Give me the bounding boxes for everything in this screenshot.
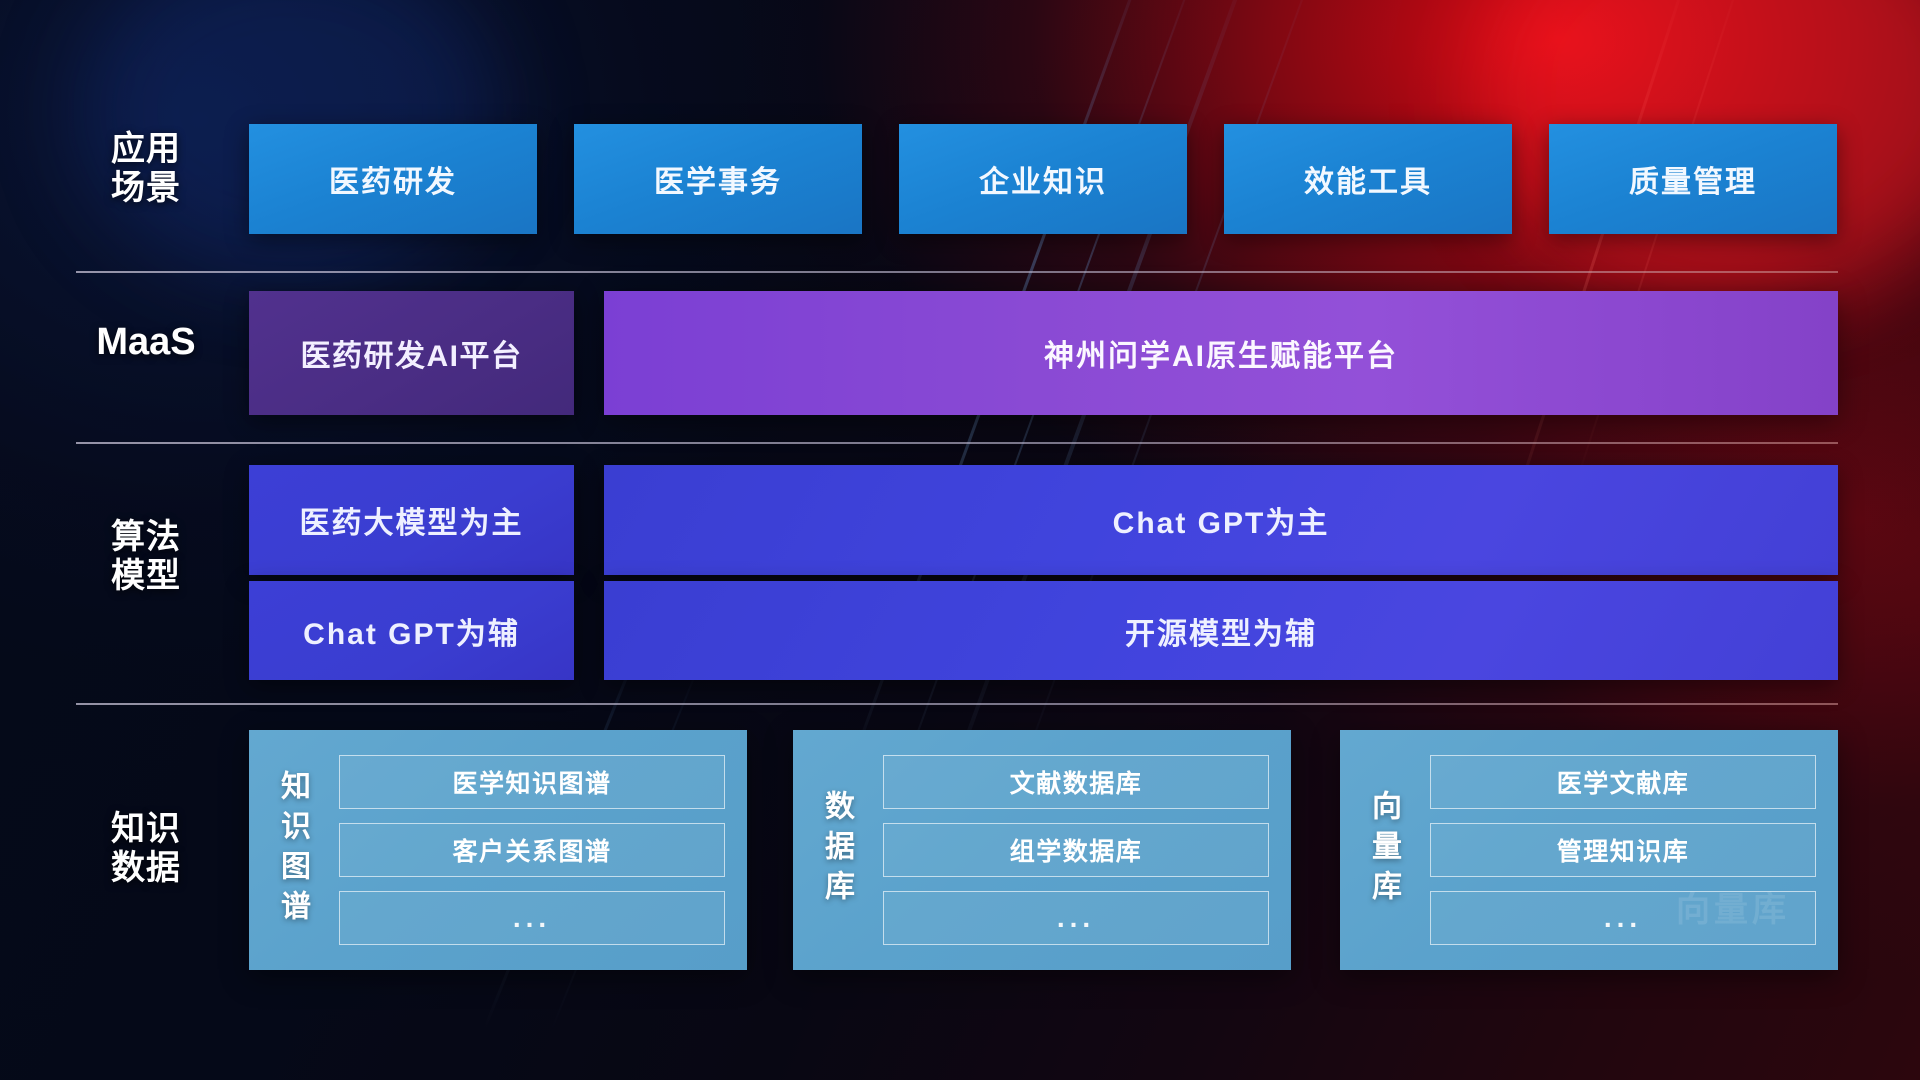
knowledge-panel-database-title: 数据库 — [793, 730, 879, 970]
knowledge-panel-vector-items: 医学文献库 管理知识库 ... — [1426, 730, 1838, 970]
knowledge-item-graph-more[interactable]: ... — [339, 891, 725, 945]
row-label-knowledge: 知识 数据 — [76, 810, 216, 889]
app-box-medicine-rd[interactable]: 医药研发 — [249, 124, 537, 234]
knowledge-item-database-more[interactable]: ... — [883, 891, 1269, 945]
algo-box-chatgpt-primary[interactable]: Chat GPT为主 — [604, 465, 1838, 575]
app-box-enterprise-knowledge[interactable]: 企业知识 — [899, 124, 1187, 234]
knowledge-item-management-kb[interactable]: 管理知识库 — [1430, 823, 1816, 877]
maas-box-shenzhou-wenxue-platform[interactable]: 神州问学AI原生赋能平台 — [604, 291, 1838, 415]
maas-box-pharma-ai-platform[interactable]: 医药研发AI平台 — [249, 291, 574, 415]
knowledge-panel-database-items: 文献数据库 组学数据库 ... — [879, 730, 1291, 970]
app-box-quality-management[interactable]: 质量管理 — [1549, 124, 1837, 234]
algo-box-pharma-llm-primary[interactable]: 医药大模型为主 — [249, 465, 574, 575]
row-label-application: 应用 场景 — [76, 130, 216, 209]
knowledge-item-vector-more[interactable]: ... — [1430, 891, 1816, 945]
algo-box-opensource-auxiliary[interactable]: 开源模型为辅 — [604, 581, 1838, 680]
app-box-efficiency-tools[interactable]: 效能工具 — [1224, 124, 1512, 234]
knowledge-panel-vector: 向量库 医学文献库 管理知识库 ... 向量库 — [1340, 730, 1838, 970]
knowledge-panel-graph-items: 医学知识图谱 客户关系图谱 ... — [335, 730, 747, 970]
knowledge-item-omics-db[interactable]: 组学数据库 — [883, 823, 1269, 877]
knowledge-panel-graph-title: 知识图谱 — [249, 730, 335, 970]
knowledge-item-literature-db[interactable]: 文献数据库 — [883, 755, 1269, 809]
knowledge-item-medical-graph[interactable]: 医学知识图谱 — [339, 755, 725, 809]
knowledge-item-medical-literature[interactable]: 医学文献库 — [1430, 755, 1816, 809]
divider-application-maas — [76, 271, 1838, 273]
diagram-canvas: 应用 场景 医药研发 医学事务 企业知识 效能工具 质量管理 MaaS 医药研发… — [0, 0, 1920, 1080]
divider-maas-algorithm — [76, 442, 1838, 444]
knowledge-panel-graph: 知识图谱 医学知识图谱 客户关系图谱 ... — [249, 730, 747, 970]
row-label-algorithm: 算法 模型 — [76, 518, 216, 597]
knowledge-panel-database: 数据库 文献数据库 组学数据库 ... — [793, 730, 1291, 970]
algo-box-chatgpt-auxiliary[interactable]: Chat GPT为辅 — [249, 581, 574, 680]
knowledge-item-customer-graph[interactable]: 客户关系图谱 — [339, 823, 725, 877]
divider-algorithm-knowledge — [76, 703, 1838, 705]
knowledge-panel-vector-title: 向量库 — [1340, 730, 1426, 970]
app-box-medical-affairs[interactable]: 医学事务 — [574, 124, 862, 234]
row-label-maas: MaaS — [76, 320, 216, 364]
